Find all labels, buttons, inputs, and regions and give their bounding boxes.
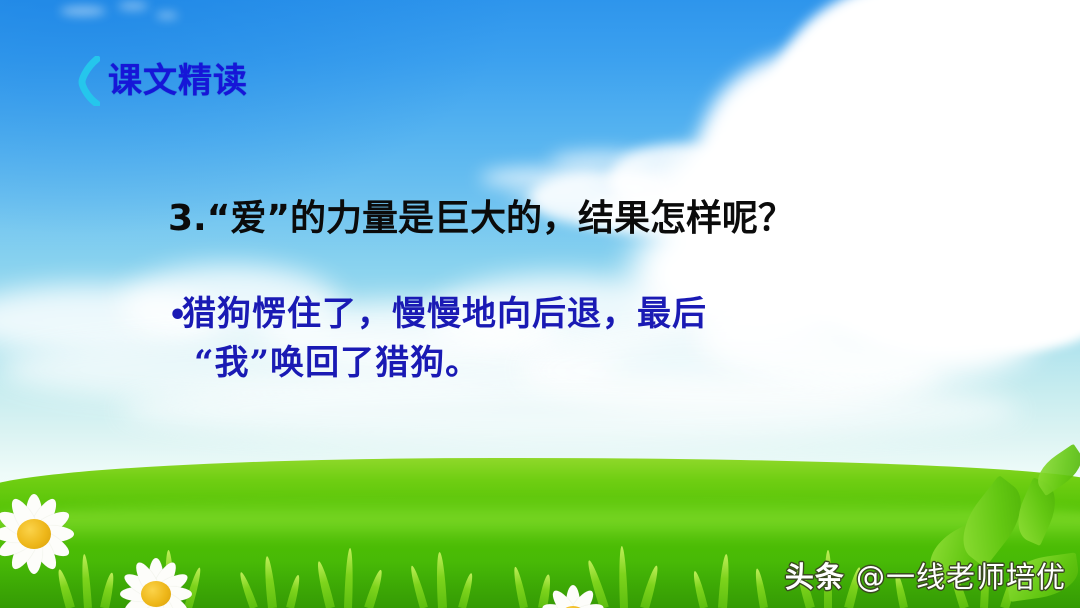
slide-title-group: 课文精读	[78, 56, 248, 106]
bullet-point-icon: •	[168, 294, 182, 338]
daisy-flower	[530, 574, 616, 608]
answer-line-1-text: 猎狗愣住了，慢慢地向后退，最后	[182, 294, 707, 334]
left-bracket-icon	[78, 56, 100, 106]
presentation-slide: 课文精读 3.“爱”的力量是巨大的，结果怎样呢？ •猎狗愣住了，慢慢地向后退，最…	[0, 0, 1080, 608]
answer-line-2: “我”唤回了猎狗。	[168, 339, 928, 388]
watermark-source: 头条	[785, 560, 845, 594]
answer-block: •猎狗愣住了，慢慢地向后退，最后 “我”唤回了猎狗。	[168, 290, 928, 389]
grass-highlight-band	[0, 498, 1080, 544]
daisy-flower	[0, 482, 86, 586]
answer-line-1: •猎狗愣住了，慢慢地向后退，最后	[168, 290, 928, 339]
watermark-handle: @一线老师培优	[856, 560, 1066, 594]
daisy-flower	[108, 546, 204, 608]
page-title: 课文精读	[108, 64, 248, 98]
question-text: 3.“爱”的力量是巨大的，结果怎样呢？	[168, 196, 794, 243]
watermark: 头条 @一线老师培优	[785, 554, 1066, 596]
